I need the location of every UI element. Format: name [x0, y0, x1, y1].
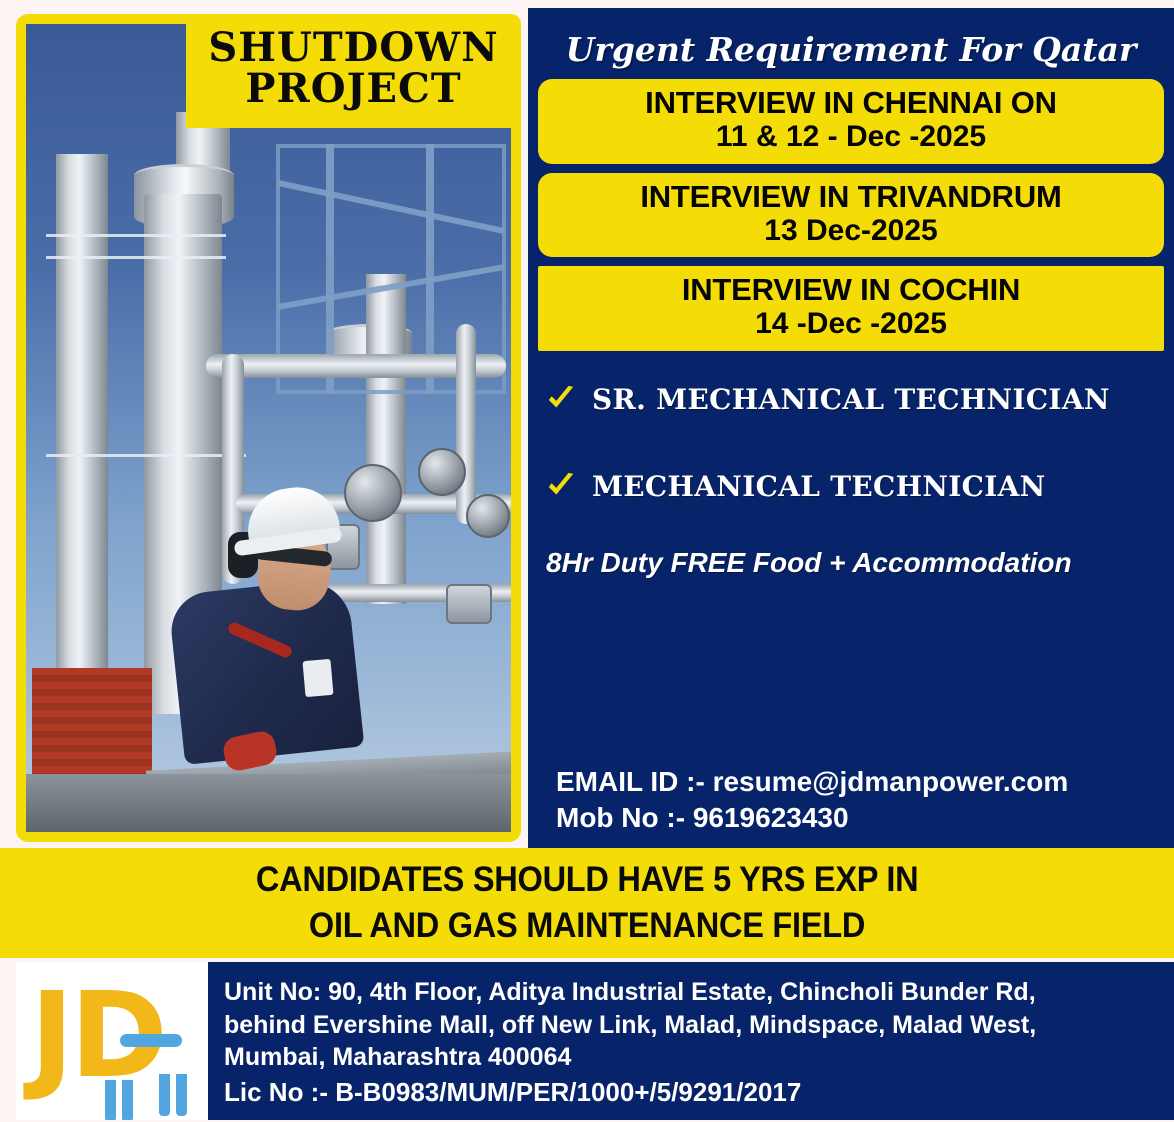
red-equipment-icon — [32, 668, 152, 786]
footer-bar: JD Unit No: 90, 4th Floor, Aditya Indust… — [16, 962, 1174, 1120]
benefits-text: 8Hr Duty FREE Food + Accommodation — [528, 547, 1174, 579]
venue-city-chennai: INTERVIEW IN CHENNAI ON — [546, 86, 1156, 120]
details-panel: Urgent Requirement For Qatar INTERVIEW I… — [528, 8, 1174, 850]
shutdown-banner-line-1: SHUTDOWN — [200, 28, 507, 69]
positions-list: SR. MECHANICAL TECHNICIAN MECHANICAL TEC… — [528, 373, 1174, 513]
list-item: SR. MECHANICAL TECHNICIAN — [528, 373, 1174, 426]
footer-address-block: Unit No: 90, 4th Floor, Aditya Industria… — [208, 962, 1174, 1120]
handrail-icon — [46, 454, 246, 457]
mobile-line[interactable]: Mob No :- 9619623430 — [556, 800, 1068, 836]
refinery-photo — [26, 24, 511, 832]
experience-banner: CANDIDATES SHOULD HAVE 5 YRS EXP IN OIL … — [0, 848, 1174, 958]
email-line[interactable]: EMAIL ID :- resume@jdmanpower.com — [556, 764, 1068, 800]
distillation-column-icon — [56, 154, 108, 714]
venue-city-trivandrum: INTERVIEW IN TRIVANDRUM — [546, 180, 1156, 214]
shutdown-project-banner: SHUTDOWN PROJECT — [186, 14, 521, 128]
address-line-1: Unit No: 90, 4th Floor, Aditya Industria… — [224, 976, 1164, 1009]
contact-block: EMAIL ID :- resume@jdmanpower.com Mob No… — [556, 764, 1068, 836]
position-label: MECHANICAL TECHNICIAN — [592, 470, 1046, 503]
page-title: Urgent Requirement For Qatar — [528, 30, 1174, 69]
recruitment-poster: SHUTDOWN PROJECT Urgent Requirement For … — [0, 0, 1174, 1122]
list-item: MECHANICAL TECHNICIAN — [528, 460, 1174, 513]
valve-body-icon — [446, 584, 492, 624]
venue-box-cochin: INTERVIEW IN COCHIN 14 -Dec -2025 — [538, 266, 1164, 351]
experience-line-1: CANDIDATES SHOULD HAVE 5 YRS EXP IN — [256, 857, 918, 903]
venue-box-chennai: INTERVIEW IN CHENNAI ON 11 & 12 - Dec -2… — [538, 79, 1164, 164]
experience-line-2: OIL AND GAS MAINTENANCE FIELD — [309, 903, 865, 949]
venue-date-trivandrum: 13 Dec-2025 — [546, 214, 1156, 249]
position-label: SR. MECHANICAL TECHNICIAN — [592, 383, 1110, 416]
venue-city-cochin: INTERVIEW IN COCHIN — [546, 273, 1156, 307]
handrail-icon — [46, 234, 226, 237]
address-line-2: behind Evershine Mall, off New Link, Mal… — [224, 1009, 1164, 1042]
valve-flange-icon — [466, 494, 510, 538]
process-pipe-icon — [456, 324, 476, 524]
company-logo: JD — [16, 962, 208, 1120]
check-icon — [546, 384, 576, 414]
venue-date-chennai: 11 & 12 - Dec -2025 — [546, 120, 1156, 155]
license-line: Lic No :- B-B0983/MUM/PER/1000+/5/9291/2… — [224, 1076, 1164, 1110]
valve-flange-icon — [418, 448, 466, 496]
jacket-pocket-icon — [302, 659, 333, 697]
venue-date-cochin: 14 -Dec -2025 — [546, 307, 1156, 342]
handrail-icon — [46, 256, 226, 259]
handshake-arms-icon — [120, 1034, 182, 1047]
photo-panel: SHUTDOWN PROJECT — [16, 14, 521, 842]
address-line-3: Mumbai, Maharashtra 400064 — [224, 1041, 1164, 1074]
shutdown-banner-line-2: PROJECT — [200, 69, 507, 110]
venue-box-trivandrum: INTERVIEW IN TRIVANDRUM 13 Dec-2025 — [538, 173, 1164, 258]
maintenance-engineer-figure — [154, 484, 384, 784]
check-icon — [546, 471, 576, 501]
